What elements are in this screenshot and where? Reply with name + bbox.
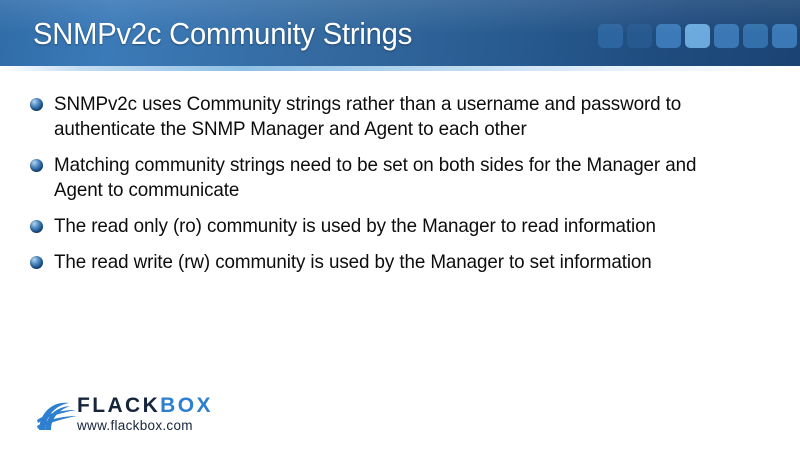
slide-header: SNMPv2c Community Strings <box>0 0 800 66</box>
logo-url: www.flackbox.com <box>77 418 213 434</box>
logo-wordmark: FLACKBOX <box>77 394 213 417</box>
slide: SNMPv2c Community Strings SNMPv2c uses C… <box>0 0 800 450</box>
decor-square-4 <box>685 24 710 48</box>
flackbox-logo: FLACKBOX www.flackbox.com <box>36 392 236 442</box>
list-item: The read write (rw) community is used by… <box>30 250 774 275</box>
list-item: The read only (ro) community is used by … <box>30 214 774 239</box>
decor-square-1 <box>598 24 623 48</box>
decor-square-2 <box>627 24 652 48</box>
decor-square-7 <box>772 24 797 48</box>
flackbox-bridge-icon <box>36 397 78 435</box>
list-item-text: The read only (ro) community is used by … <box>54 214 749 239</box>
list-item-text: Matching community strings need to be se… <box>54 153 749 203</box>
list-item: SNMPv2c uses Community strings rather th… <box>30 92 774 142</box>
logo-text: FLACKBOX www.flackbox.com <box>77 394 213 434</box>
logo-word-flack: FLACK <box>77 394 160 417</box>
bullet-sphere-icon <box>30 159 43 172</box>
decor-square-6 <box>743 24 768 48</box>
header-underline <box>0 66 800 71</box>
decor-square-5 <box>714 24 739 48</box>
bullet-sphere-icon <box>30 220 43 233</box>
logo-word-box: BOX <box>160 394 213 417</box>
list-item-text: SNMPv2c uses Community strings rather th… <box>54 92 749 142</box>
bullet-list: SNMPv2c uses Community strings rather th… <box>30 92 774 286</box>
list-item-text: The read write (rw) community is used by… <box>54 250 749 275</box>
bullet-sphere-icon <box>30 256 43 269</box>
list-item: Matching community strings need to be se… <box>30 153 774 203</box>
page-title: SNMPv2c Community Strings <box>33 16 412 52</box>
bullet-sphere-icon <box>30 98 43 111</box>
decor-square-3 <box>656 24 681 48</box>
header-decoration-squares <box>598 24 797 48</box>
